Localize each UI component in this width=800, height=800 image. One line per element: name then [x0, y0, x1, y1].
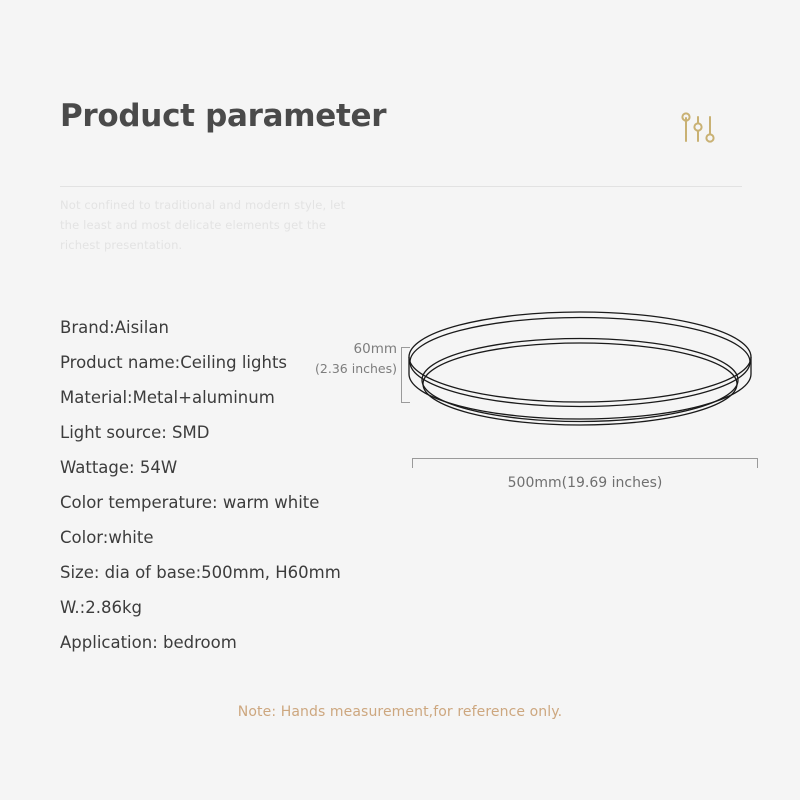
- page-title: Product parameter: [60, 98, 386, 135]
- width-dimension-bracket: [412, 458, 758, 468]
- height-dimension-label: 60mm (2.36 inches): [297, 340, 397, 378]
- height-dimension-inches: (2.36 inches): [297, 359, 397, 378]
- product-illustration: 60mm (2.36 inches) 500: [340, 290, 770, 510]
- sliders-settings-icon: [678, 108, 720, 150]
- product-parameter-page: Product parameter Not confined to tradit…: [0, 0, 800, 800]
- height-dimension-mm: 60mm: [297, 340, 397, 359]
- width-dimension-label: 500mm(19.69 inches): [412, 475, 758, 491]
- subtitle-line-2: the least and most delicate elements get…: [60, 215, 360, 235]
- subtitle-text: Not confined to traditional and modern s…: [60, 195, 360, 255]
- subtitle-line-1: Not confined to traditional and modern s…: [60, 195, 360, 215]
- spec-item-color: Color:white: [60, 520, 390, 555]
- spec-item-size: Size: dia of base:500mm, H60mm: [60, 555, 390, 590]
- footer-note: Note: Hands measurement,for reference on…: [0, 704, 800, 720]
- header-divider: [60, 186, 742, 187]
- subtitle-line-3: richest presentation.: [60, 235, 360, 255]
- spec-item-application: Application: bedroom: [60, 625, 390, 660]
- spec-item-weight: W.:2.86kg: [60, 590, 390, 625]
- ceiling-light-drawing: [400, 300, 760, 475]
